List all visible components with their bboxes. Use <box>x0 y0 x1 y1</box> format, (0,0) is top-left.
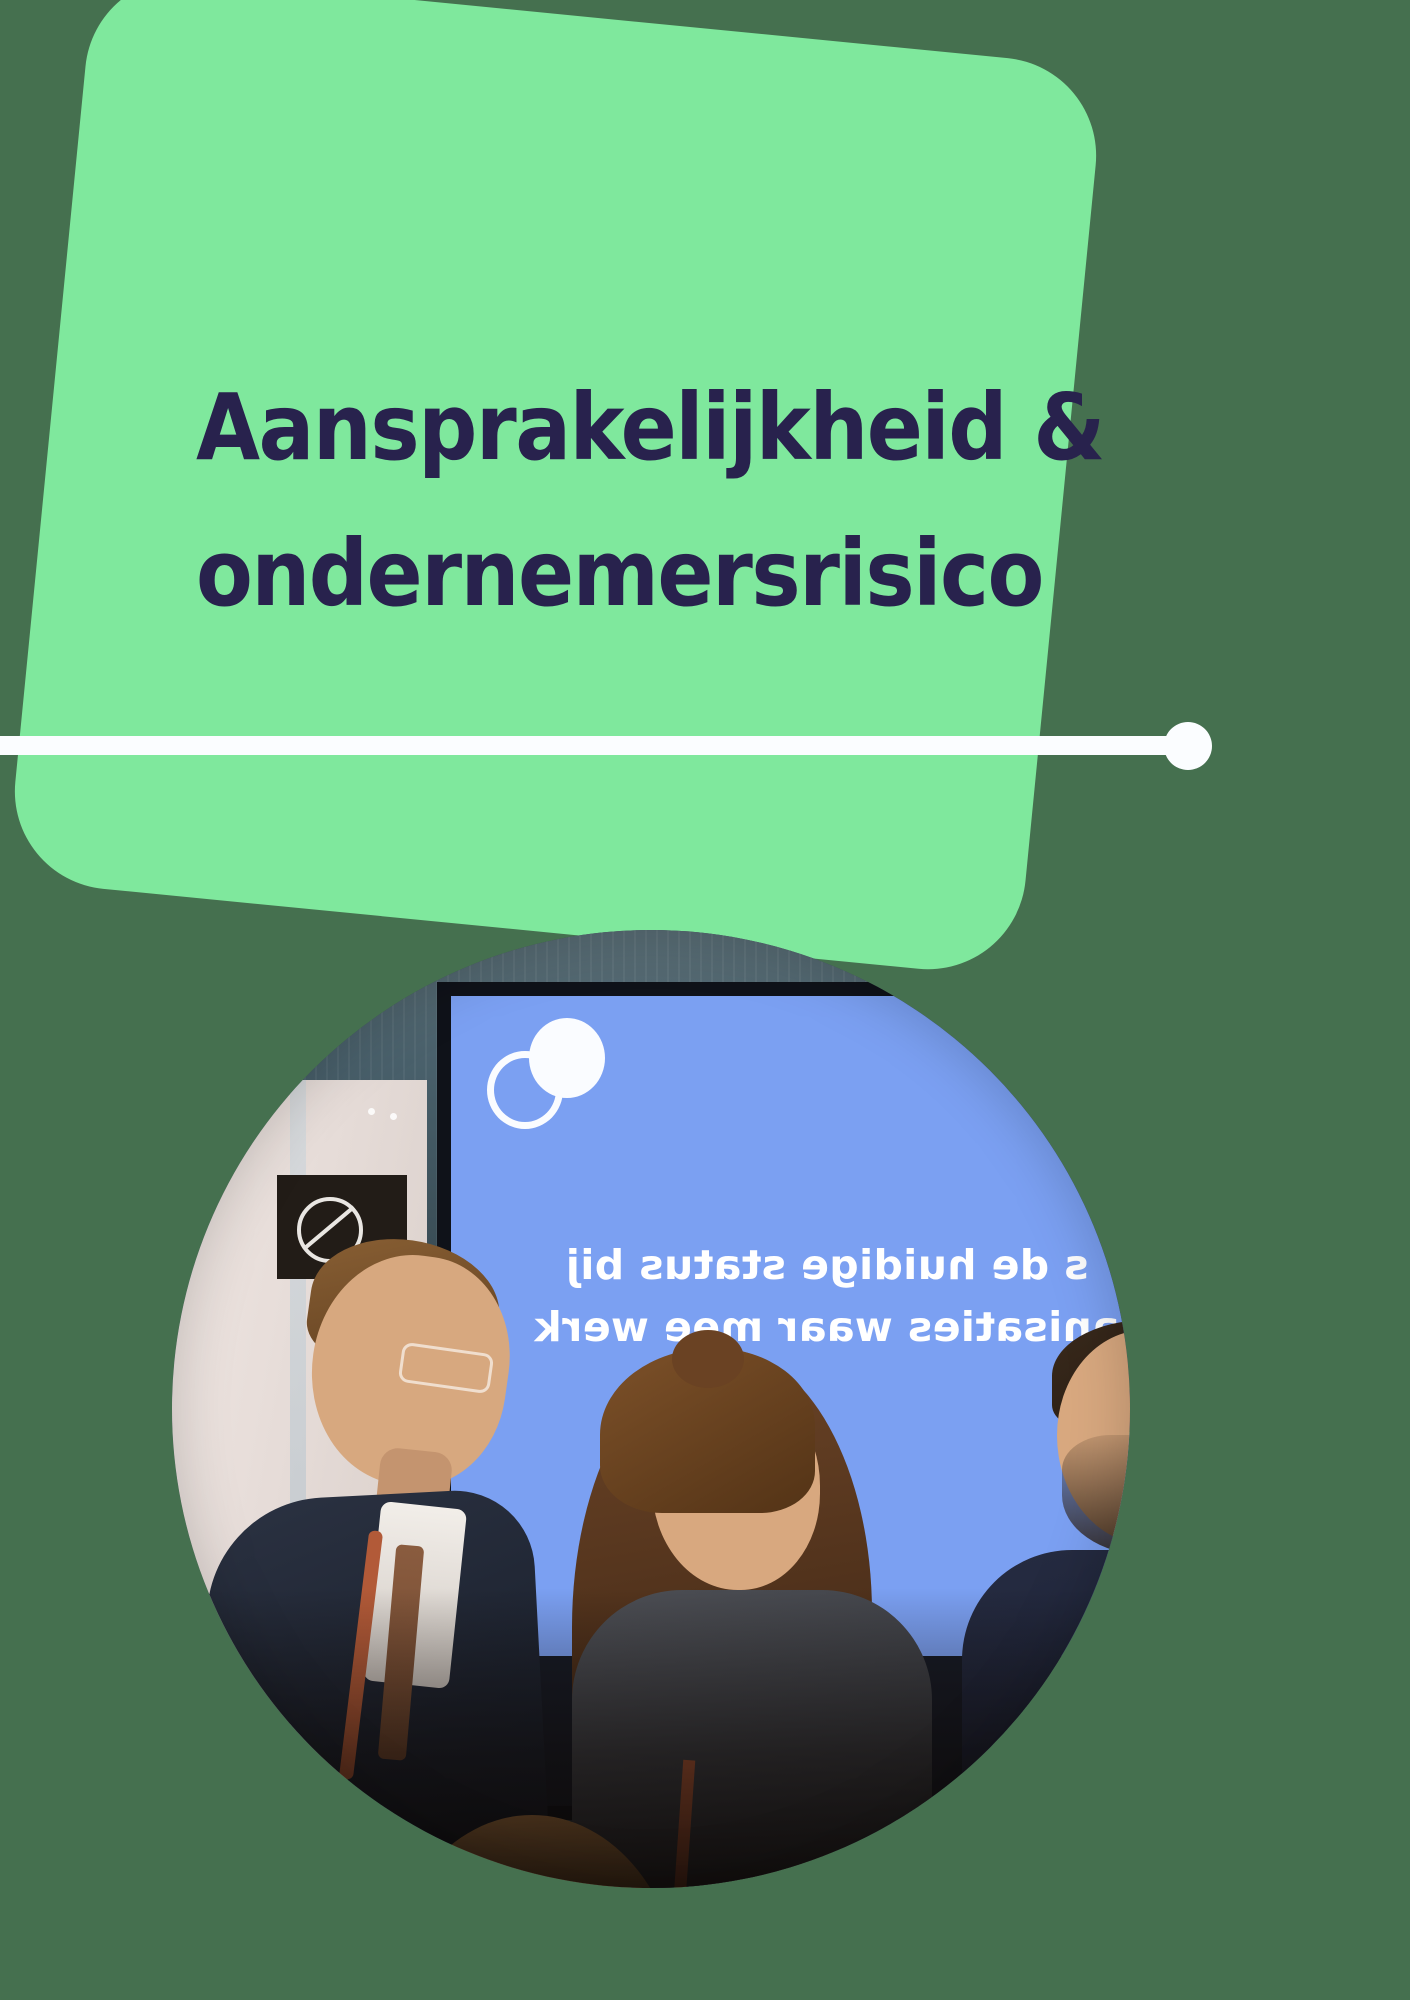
slide-text-line-1: s de huidige status bij <box>451 1234 1130 1296</box>
poster-stage: Aansprakelijkheid & ondernemersrisico s … <box>0 0 1410 2000</box>
divider-rule <box>0 736 1190 755</box>
wall-dot-icon <box>368 1108 375 1115</box>
title-line-2: ondernemersrisico <box>196 501 1216 647</box>
foreground-shadow <box>172 1588 1130 1888</box>
divider-dot-icon <box>1164 722 1212 770</box>
title-line-1: Aansprakelijkheid & <box>196 355 1216 501</box>
slide-logo-ring-icon <box>487 1051 563 1129</box>
page-title: Aansprakelijkheid & ondernemersrisico <box>196 355 1216 647</box>
slide-text-line-2: anisaties waar mee werk <box>451 1296 1130 1358</box>
photo-scene: s de huidige status bij anisaties waar m… <box>172 930 1130 1888</box>
wall-dot-icon <box>390 1113 397 1120</box>
speaker-center-bun <box>672 1330 744 1388</box>
panel-photo: s de huidige status bij anisaties waar m… <box>172 930 1130 1888</box>
monitor-indicator-icon <box>1127 1010 1130 1020</box>
